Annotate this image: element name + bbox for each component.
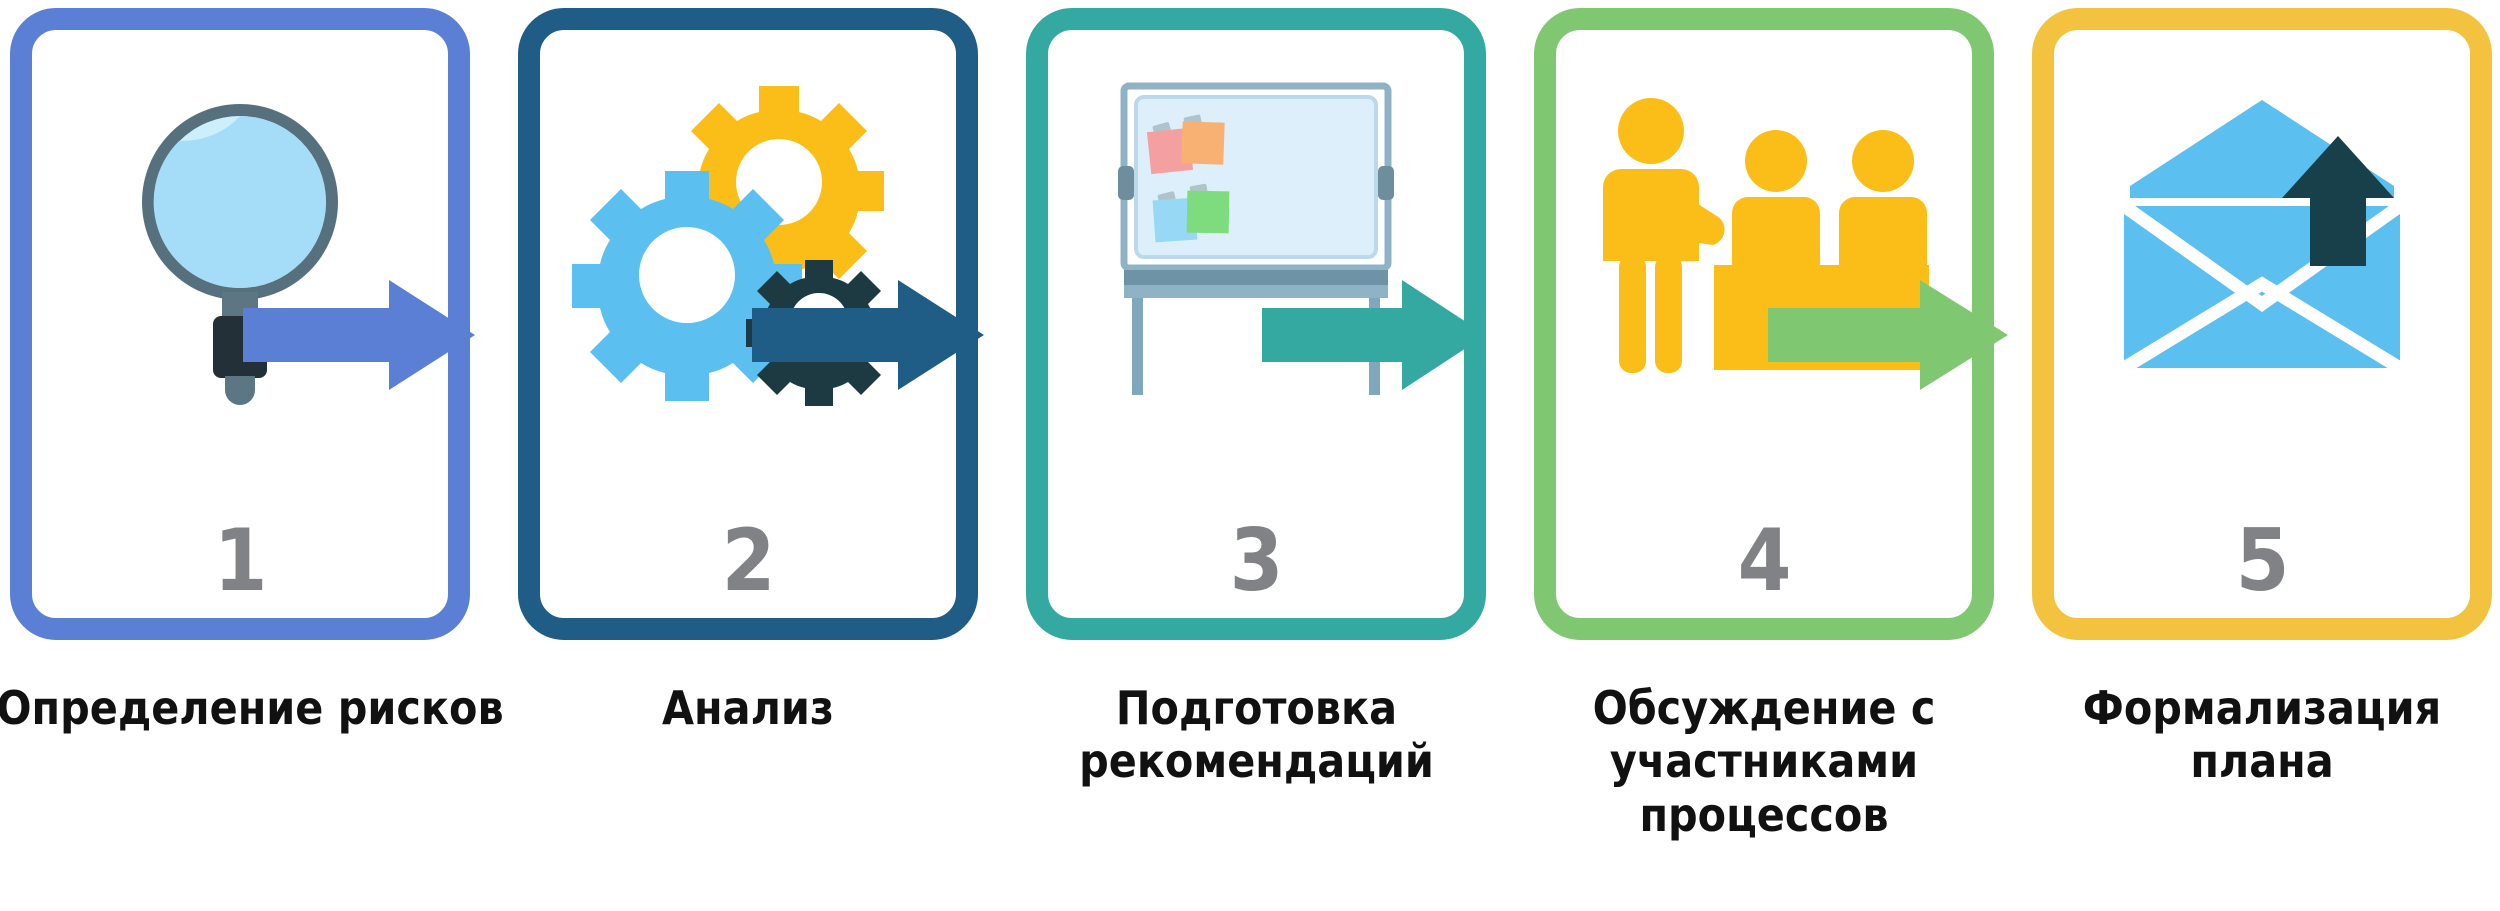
step-caption-3: Подготовка рекомендаций xyxy=(1004,682,1509,789)
step-caption-2: Анализ xyxy=(518,682,978,735)
step-number-2: 2 xyxy=(540,518,956,604)
step-caption-1: Определение рисков xyxy=(0,682,530,735)
arrow-step3-to-step4 xyxy=(1262,280,1486,390)
step-caption-4: Обсуждение с участниками процессов xyxy=(1494,682,2034,842)
process-diagram: 1 xyxy=(0,0,2500,911)
arrow-step1-to-step2 xyxy=(243,280,475,390)
envelope-upload-icon xyxy=(2054,30,2470,450)
arrow-step4-to-step5 xyxy=(1768,280,2008,390)
step-number-4: 4 xyxy=(1556,518,1972,604)
step-number-5: 5 xyxy=(2054,518,2470,604)
step-number-3: 3 xyxy=(1048,518,1464,604)
step-caption-5: Формализация плана xyxy=(2014,682,2500,789)
step-number-1: 1 xyxy=(32,518,448,604)
arrow-step2-to-step3 xyxy=(752,280,984,390)
step-card-5[interactable]: 5 xyxy=(2032,8,2492,640)
